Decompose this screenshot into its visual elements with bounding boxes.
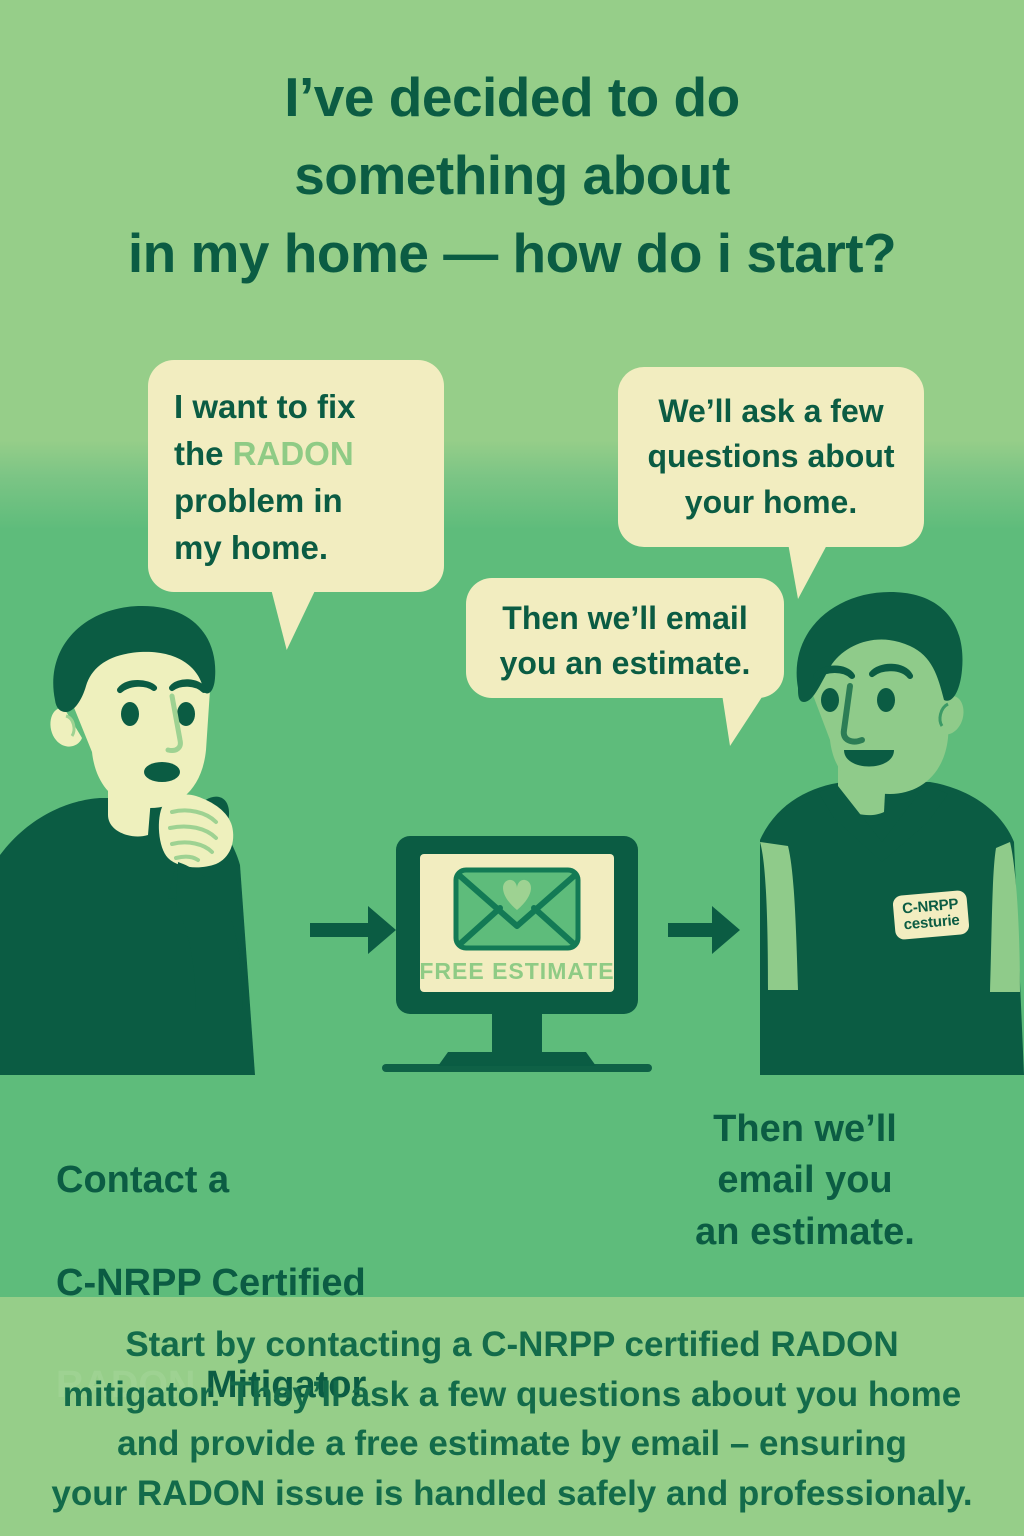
- bottom-description: Start by contacting a C-NRPP certified R…: [0, 1320, 1024, 1519]
- page-title: I’ve decided to do something about in my…: [0, 58, 1024, 292]
- arrow-right-icon: [668, 900, 740, 960]
- caption-left-line-2: C-NRPP Certified: [56, 1258, 486, 1309]
- caption-left-line-1: Contact a: [56, 1155, 486, 1206]
- bubble-line-1: I want to fix: [174, 384, 418, 431]
- monitor-free-estimate: FREE ESTIMATE: [382, 836, 652, 1076]
- caption-email-estimate: Then we’ll email you an estimate.: [640, 1104, 970, 1258]
- bubble-line-2: the RADON: [174, 431, 418, 478]
- free-estimate-label: FREE ESTIMATE: [419, 958, 614, 984]
- bubble-line-2-prefix: the: [174, 435, 233, 472]
- speech-bubble-technician-questions: We’ll ask a few questions about your hom…: [618, 367, 924, 547]
- bubble-line-3: problem in: [174, 478, 418, 525]
- c-nrpp-badge: C-NRPP cesturie: [892, 890, 970, 940]
- infographic-poster: I’ve decided to do something about in my…: [0, 0, 1024, 1536]
- homeowner-illustration: [0, 600, 300, 1075]
- technician-illustration: [752, 590, 1024, 1075]
- speech-bubble-homeowner: I want to fix the RADON problem in my ho…: [148, 360, 444, 592]
- radon-highlight: RADON: [233, 435, 354, 472]
- badge-line-2: cesturie: [903, 913, 960, 933]
- speech-bubble-technician-estimate: Then we’ll email you an estimate.: [466, 578, 784, 698]
- bubble-line-4: my home.: [174, 525, 418, 572]
